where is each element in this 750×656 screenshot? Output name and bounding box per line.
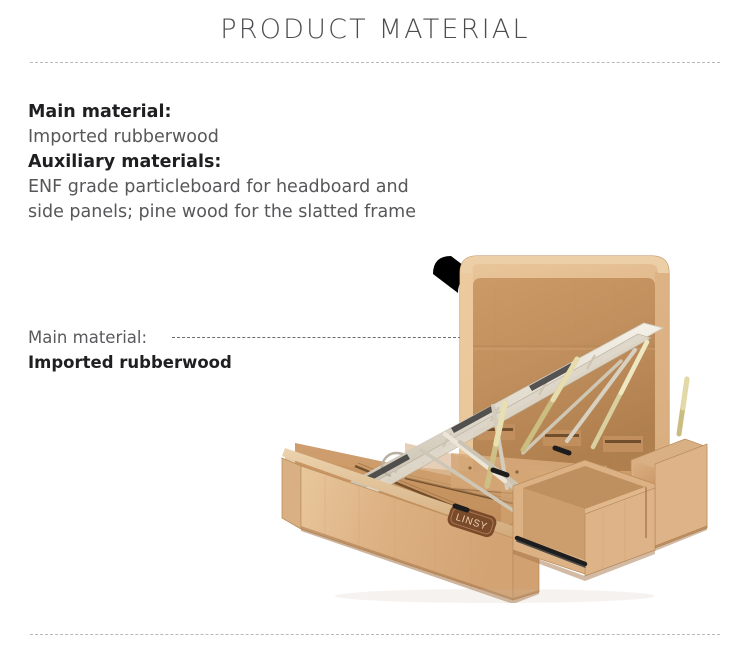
spec-line-auxiliary-materials-label: Auxiliary materials:: [28, 150, 498, 175]
callout-value: Imported rubberwood: [28, 350, 288, 375]
spec-line-auxiliary-materials-value-2: side panels; pine wood for the slatted f…: [28, 200, 498, 225]
product-image-storage-bed: LINSY: [255, 238, 715, 603]
divider-top: [30, 62, 720, 63]
callout-label: Main material:: [28, 326, 288, 350]
divider-bottom: [30, 634, 720, 635]
material-spec-block: Main material: Imported rubberwood Auxil…: [28, 100, 498, 225]
callout-main-material: Main material: Imported rubberwood: [28, 326, 288, 375]
spec-line-auxiliary-materials-value-1: ENF grade particleboard for headboard an…: [28, 175, 498, 200]
spec-line-main-material-label: Main material:: [28, 100, 498, 125]
spec-line-main-material-value: Imported rubberwood: [28, 125, 498, 150]
page-title: PRODUCT MATERIAL: [0, 14, 750, 45]
